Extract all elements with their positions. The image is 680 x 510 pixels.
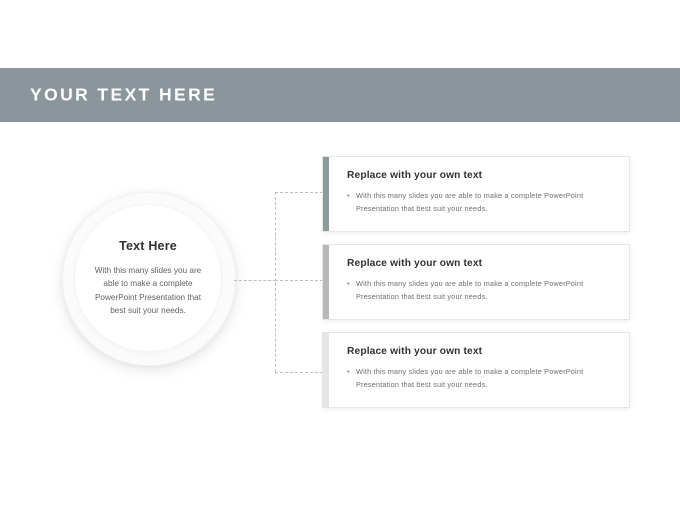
bullet-dot-icon: • [347,366,356,379]
content-box-2[interactable]: Replace with your own text • With this m… [322,244,630,320]
content-box-1-body: Replace with your own text • With this m… [347,170,615,215]
connector-branch-2 [275,280,323,281]
content-box-1-title: Replace with your own text [347,170,615,181]
bullet-dot-icon: • [347,278,356,291]
content-box-3-title: Replace with your own text [347,346,615,357]
content-box-3-bullet: • With this many slides you are able to … [347,366,615,391]
content-box-1[interactable]: Replace with your own text • With this m… [322,156,630,232]
header-banner: YOUR TEXT HERE [0,68,680,122]
content-box-3-body: Replace with your own text • With this m… [347,346,615,391]
content-box-3-bullet-text: With this many slides you are able to ma… [356,366,615,391]
bullet-dot-icon: • [347,190,356,203]
accent-bar-2 [323,245,329,319]
content-box-2-bullet-text: With this many slides you are able to ma… [356,278,615,303]
connector-trunk-vertical [275,192,276,372]
circle-body-text: With this many slides you are able to ma… [89,264,207,317]
content-box-1-bullet-text: With this many slides you are able to ma… [356,190,615,215]
page-title: YOUR TEXT HERE [30,85,217,106]
accent-bar-3 [323,333,329,407]
content-box-2-bullet: • With this many slides you are able to … [347,278,615,303]
connector-branch-3 [275,372,323,373]
content-box-1-bullet: • With this many slides you are able to … [347,190,615,215]
connector-stub-horizontal [234,280,276,281]
connector-branch-1 [275,192,323,193]
circle-callout[interactable]: Text Here With this many slides you are … [62,192,236,366]
circle-inner-panel: Text Here With this many slides you are … [75,205,221,351]
circle-title: Text Here [119,239,177,253]
content-box-2-body: Replace with your own text • With this m… [347,258,615,303]
content-box-2-title: Replace with your own text [347,258,615,269]
content-box-3[interactable]: Replace with your own text • With this m… [322,332,630,408]
accent-bar-1 [323,157,329,231]
slide-canvas: YOUR TEXT HERE Text Here With this many … [0,0,680,510]
